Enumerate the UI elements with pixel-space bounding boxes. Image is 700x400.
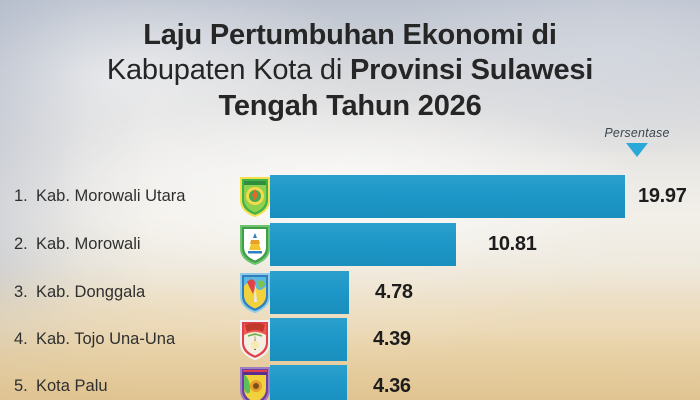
title-line-2-bold: Provinsi Sulawesi [350, 54, 593, 86]
bar-fill [270, 223, 456, 266]
legend: Persentase [582, 126, 692, 157]
bar-row-rank: 4. [14, 330, 36, 349]
bar-row-name: Kab. Donggala [36, 283, 145, 302]
bar-value-label: 4.39 [373, 318, 411, 361]
bar-row-name: Kab. Morowali Utara [36, 187, 185, 206]
bar-row-label: 1.Kab. Morowali Utara [14, 175, 185, 218]
bar-fill [270, 271, 349, 314]
bar-row-label: 5.Kota Palu [14, 365, 108, 400]
emblem-kab-morowali-utara-icon [239, 176, 271, 217]
emblem-kota-palu-icon [239, 366, 271, 400]
bar-row: 5.Kota Palu 4.36 [0, 365, 700, 400]
bar-row: 2.Kab. Morowali 10.81 [0, 223, 700, 266]
bar-fill [270, 318, 347, 361]
bar-row: 4.Kab. Tojo Una-Una 4.39 [0, 318, 700, 361]
bar-value-label: 19.97 [638, 175, 687, 218]
bar-row: 1.Kab. Morowali Utara 19.97 [0, 175, 700, 218]
emblem-kab-tojo-una-una-icon [239, 319, 271, 360]
bar-row-label: 3.Kab. Donggala [14, 271, 145, 314]
bar-row-label: 4.Kab. Tojo Una-Una [14, 318, 175, 361]
bar-row-rank: 3. [14, 283, 36, 302]
triangle-down-icon [626, 143, 648, 157]
bar-fill [270, 175, 625, 218]
emblem-kab-morowali-icon [239, 224, 271, 265]
bar-value-label: 4.78 [375, 271, 413, 314]
legend-label: Persentase [582, 126, 692, 140]
bar-row-rank: 1. [14, 187, 36, 206]
bar-row-name: Kab. Tojo Una-Una [36, 330, 175, 349]
title-line-1: Laju Pertumbuhan Ekonomi di [0, 18, 700, 53]
bar-row-rank: 5. [14, 377, 36, 396]
bar-row: 3.Kab. Donggala 4.78 [0, 271, 700, 314]
title-line-2: Kabupaten Kota di Provinsi Sulawesi [0, 53, 700, 88]
title-line-3: Tengah Tahun 2026 [0, 89, 700, 124]
bar-value-label: 10.81 [488, 223, 537, 266]
bar-row-label: 2.Kab. Morowali [14, 223, 141, 266]
emblem-kab-donggala-icon [239, 272, 271, 313]
bar-row-name: Kab. Morowali [36, 235, 141, 254]
bar-chart: 1.Kab. Morowali Utara 19.97 2.Kab. Morow… [0, 170, 700, 400]
bar-row-name: Kota Palu [36, 377, 108, 396]
bar-fill [270, 365, 347, 400]
page-title: Laju Pertumbuhan Ekonomi di Kabupaten Ko… [0, 18, 700, 124]
title-line-2-regular: Kabupaten Kota di [107, 54, 350, 86]
bar-row-rank: 2. [14, 235, 36, 254]
infographic-canvas: Laju Pertumbuhan Ekonomi di Kabupaten Ko… [0, 0, 700, 400]
bar-value-label: 4.36 [373, 365, 411, 400]
